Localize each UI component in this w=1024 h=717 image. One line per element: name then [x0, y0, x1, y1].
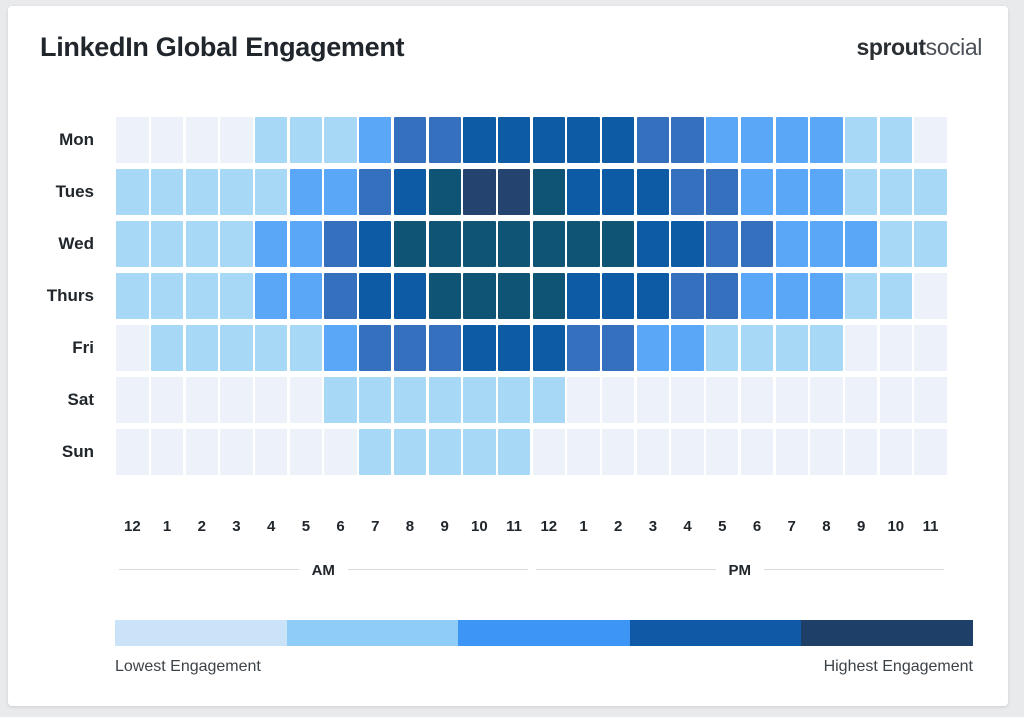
heatmap-cell[interactable]	[880, 221, 912, 267]
heatmap-cell[interactable]	[567, 325, 599, 371]
heatmap-cell[interactable]	[220, 273, 252, 319]
chart-card: LinkedIn Global Engagement sproutsocial …	[8, 6, 1008, 706]
heatmap-cell[interactable]	[255, 377, 287, 423]
heatmap-cell[interactable]	[776, 117, 808, 163]
heatmap-row	[115, 218, 948, 270]
heatmap-cell[interactable]	[845, 429, 877, 475]
hour-tick-20: 8	[809, 518, 844, 546]
heatmap-cell[interactable]	[880, 429, 912, 475]
heatmap-cell[interactable]	[290, 221, 322, 267]
heatmap-cell[interactable]	[290, 169, 322, 215]
page-title: LinkedIn Global Engagement	[40, 32, 404, 63]
hour-tick-17: 5	[705, 518, 740, 546]
heatmap-cell[interactable]	[880, 377, 912, 423]
heatmap-cell[interactable]	[359, 169, 391, 215]
heatmap-cell[interactable]	[533, 429, 565, 475]
hour-tick-13: 1	[566, 518, 601, 546]
day-axis: MonTuesWedThursFriSatSun	[8, 114, 108, 482]
heatmap-cell[interactable]	[498, 429, 530, 475]
heatmap-cell[interactable]	[116, 169, 148, 215]
heatmap-cell[interactable]	[394, 429, 426, 475]
heatmap-cell[interactable]	[463, 117, 495, 163]
heatmap-cell[interactable]	[394, 169, 426, 215]
heatmap-cell[interactable]	[429, 169, 461, 215]
heatmap-cell[interactable]	[429, 325, 461, 371]
heatmap-cell[interactable]	[741, 169, 773, 215]
heatmap-cell[interactable]	[880, 325, 912, 371]
heatmap-cell[interactable]	[290, 117, 322, 163]
ampm-axis: AM PM	[115, 556, 948, 584]
heatmap-cell[interactable]	[463, 273, 495, 319]
heatmap-cell[interactable]	[914, 169, 946, 215]
heatmap-row	[115, 322, 948, 374]
heatmap-cell[interactable]	[151, 169, 183, 215]
hour-tick-15: 3	[636, 518, 671, 546]
day-label-tues: Tues	[8, 166, 108, 218]
chart-header: LinkedIn Global Engagement sproutsocial	[8, 6, 1008, 98]
heatmap-cell[interactable]	[914, 273, 946, 319]
day-label-sun: Sun	[8, 426, 108, 478]
legend-swatch-1	[287, 620, 459, 646]
heatmap-cell[interactable]	[567, 169, 599, 215]
heatmap-cell[interactable]	[290, 377, 322, 423]
heatmap-grid	[115, 114, 948, 482]
heatmap-row	[115, 114, 948, 166]
heatmap-cell[interactable]	[706, 273, 738, 319]
heatmap-cell[interactable]	[116, 325, 148, 371]
heatmap-cell[interactable]	[186, 221, 218, 267]
heatmap-cell[interactable]	[637, 117, 669, 163]
heatmap-cell[interactable]	[845, 221, 877, 267]
heatmap-cell[interactable]	[567, 273, 599, 319]
heatmap-cell[interactable]	[602, 377, 634, 423]
heatmap-cell[interactable]	[186, 117, 218, 163]
heatmap-cell[interactable]	[220, 377, 252, 423]
hour-tick-21: 9	[844, 518, 879, 546]
heatmap-cell[interactable]	[394, 377, 426, 423]
heatmap-row	[115, 166, 948, 218]
legend-swatch-4	[801, 620, 973, 646]
heatmap-cell[interactable]	[567, 377, 599, 423]
heatmap-cell[interactable]	[359, 273, 391, 319]
heatmap-cell[interactable]	[637, 377, 669, 423]
heatmap-cell[interactable]	[602, 169, 634, 215]
heatmap-cell[interactable]	[220, 221, 252, 267]
day-label-mon: Mon	[8, 114, 108, 166]
heatmap-cell[interactable]	[359, 221, 391, 267]
hour-axis: 121234567891011121234567891011	[115, 518, 948, 546]
heatmap-cell[interactable]	[741, 273, 773, 319]
heatmap-cell[interactable]	[671, 429, 703, 475]
heatmap-cell[interactable]	[116, 377, 148, 423]
heatmap-cell[interactable]	[567, 429, 599, 475]
day-label-thurs: Thurs	[8, 270, 108, 322]
hour-tick-8: 8	[393, 518, 428, 546]
legend-low-label: Lowest Engagement	[115, 658, 261, 676]
heatmap-cell[interactable]	[186, 273, 218, 319]
logo-text-light: social	[926, 34, 982, 60]
heatmap-cell[interactable]	[741, 117, 773, 163]
heatmap-cell[interactable]	[914, 117, 946, 163]
heatmap-cell[interactable]	[914, 221, 946, 267]
heatmap-cell[interactable]	[706, 117, 738, 163]
heatmap-cell[interactable]	[567, 221, 599, 267]
heatmap-cell[interactable]	[255, 325, 287, 371]
heatmap-cell[interactable]	[880, 273, 912, 319]
heatmap-cell[interactable]	[186, 169, 218, 215]
heatmap-cell[interactable]	[776, 377, 808, 423]
day-label-wed: Wed	[8, 218, 108, 270]
hour-tick-9: 9	[427, 518, 462, 546]
hour-tick-23: 11	[913, 518, 948, 546]
heatmap-cell[interactable]	[810, 429, 842, 475]
am-label: AM	[299, 562, 348, 579]
heatmap-cell[interactable]	[776, 429, 808, 475]
heatmap-cell[interactable]	[776, 273, 808, 319]
heatmap-cell[interactable]	[151, 117, 183, 163]
heatmap-cell[interactable]	[533, 377, 565, 423]
heatmap-cell[interactable]	[671, 377, 703, 423]
heatmap-cell[interactable]	[324, 377, 356, 423]
hour-tick-12: 12	[531, 518, 566, 546]
hour-tick-19: 7	[774, 518, 809, 546]
heatmap-cell[interactable]	[671, 273, 703, 319]
heatmap-cell[interactable]	[637, 273, 669, 319]
heatmap-cell[interactable]	[810, 325, 842, 371]
heatmap-cell[interactable]	[637, 169, 669, 215]
heatmap-cell[interactable]	[324, 273, 356, 319]
heatmap-cell[interactable]	[151, 377, 183, 423]
heatmap-cell[interactable]	[324, 221, 356, 267]
heatmap-cell[interactable]	[706, 169, 738, 215]
heatmap-cell[interactable]	[394, 325, 426, 371]
heatmap-cell[interactable]	[671, 117, 703, 163]
heatmap-cell[interactable]	[429, 117, 461, 163]
hour-tick-2: 2	[184, 518, 219, 546]
heatmap-cell[interactable]	[324, 325, 356, 371]
heatmap-cell[interactable]	[845, 377, 877, 423]
heatmap-cell[interactable]	[776, 325, 808, 371]
heatmap-cell[interactable]	[706, 377, 738, 423]
heatmap-cell[interactable]	[845, 117, 877, 163]
heatmap-cell[interactable]	[637, 429, 669, 475]
heatmap-cell[interactable]	[914, 325, 946, 371]
day-label-sat: Sat	[8, 374, 108, 426]
heatmap-cell[interactable]	[359, 325, 391, 371]
heatmap-cell[interactable]	[810, 117, 842, 163]
heatmap-row	[115, 270, 948, 322]
heatmap-cell[interactable]	[706, 429, 738, 475]
heatmap-cell[interactable]	[220, 325, 252, 371]
heatmap-cell[interactable]	[602, 273, 634, 319]
legend-swatch-3	[630, 620, 802, 646]
pm-label: PM	[716, 562, 765, 579]
heatmap-cell[interactable]	[498, 325, 530, 371]
heatmap-cell[interactable]	[498, 377, 530, 423]
heatmap-cell[interactable]	[498, 169, 530, 215]
legend-swatch-0	[115, 620, 287, 646]
hour-tick-4: 4	[254, 518, 289, 546]
heatmap-cell[interactable]	[533, 325, 565, 371]
heatmap-cell[interactable]	[255, 117, 287, 163]
heatmap-cell[interactable]	[116, 429, 148, 475]
heatmap-cell[interactable]	[880, 117, 912, 163]
heatmap-cell[interactable]	[324, 117, 356, 163]
hour-tick-7: 7	[358, 518, 393, 546]
heatmap-cell[interactable]	[810, 221, 842, 267]
sprout-social-logo: sproutsocial	[856, 34, 982, 61]
heatmap-cell[interactable]	[637, 221, 669, 267]
heatmap-cell[interactable]	[186, 377, 218, 423]
logo-text-bold: sprout	[856, 34, 925, 60]
heatmap-cell[interactable]	[602, 221, 634, 267]
heatmap-cell[interactable]	[429, 377, 461, 423]
hour-tick-18: 6	[740, 518, 775, 546]
heatmap-cell[interactable]	[255, 221, 287, 267]
heatmap-cell[interactable]	[810, 273, 842, 319]
hour-tick-6: 6	[323, 518, 358, 546]
hour-tick-22: 10	[878, 518, 913, 546]
heatmap-cell[interactable]	[533, 117, 565, 163]
pm-section: PM	[532, 556, 949, 584]
heatmap-cell[interactable]	[394, 117, 426, 163]
heatmap-cell[interactable]	[394, 221, 426, 267]
heatmap-cell[interactable]	[880, 169, 912, 215]
heatmap-row	[115, 426, 948, 478]
heatmap-cell[interactable]	[463, 429, 495, 475]
hour-tick-5: 5	[289, 518, 324, 546]
heatmap-cell[interactable]	[186, 429, 218, 475]
heatmap-cell[interactable]	[220, 169, 252, 215]
legend-labels: Lowest Engagement Highest Engagement	[115, 658, 973, 684]
heatmap-cell[interactable]	[741, 429, 773, 475]
heatmap-cell[interactable]	[429, 429, 461, 475]
heatmap-cell[interactable]	[741, 377, 773, 423]
heatmap-cell[interactable]	[151, 273, 183, 319]
heatmap-cell[interactable]	[810, 169, 842, 215]
heatmap-cell[interactable]	[116, 273, 148, 319]
heatmap-cell[interactable]	[706, 221, 738, 267]
heatmap-cell[interactable]	[116, 221, 148, 267]
heatmap-cell[interactable]	[567, 117, 599, 163]
heatmap-cell[interactable]	[845, 169, 877, 215]
heatmap-cell[interactable]	[463, 221, 495, 267]
heatmap-cell[interactable]	[463, 325, 495, 371]
heatmap-cell[interactable]	[463, 377, 495, 423]
heatmap-cell[interactable]	[394, 273, 426, 319]
heatmap-cell[interactable]	[602, 429, 634, 475]
heatmap-cell[interactable]	[671, 325, 703, 371]
heatmap-cell[interactable]	[637, 325, 669, 371]
heatmap-cell[interactable]	[914, 377, 946, 423]
hour-tick-1: 1	[150, 518, 185, 546]
day-label-fri: Fri	[8, 322, 108, 374]
heatmap-cell[interactable]	[151, 325, 183, 371]
hour-tick-0: 12	[115, 518, 150, 546]
heatmap-cell[interactable]	[290, 325, 322, 371]
heatmap-cell[interactable]	[359, 429, 391, 475]
hour-tick-16: 4	[670, 518, 705, 546]
heatmap-cell[interactable]	[324, 429, 356, 475]
heatmap-cell[interactable]	[671, 221, 703, 267]
heatmap-cell[interactable]	[671, 169, 703, 215]
heatmap-cell[interactable]	[741, 325, 773, 371]
heatmap-cell[interactable]	[498, 273, 530, 319]
heatmap-cell[interactable]	[914, 429, 946, 475]
hour-tick-11: 11	[497, 518, 532, 546]
heatmap-cell[interactable]	[429, 221, 461, 267]
heatmap-cell[interactable]	[533, 221, 565, 267]
heatmap-cell[interactable]	[290, 429, 322, 475]
heatmap-cell[interactable]	[151, 429, 183, 475]
heatmap-cell[interactable]	[845, 325, 877, 371]
heatmap-cell[interactable]	[220, 429, 252, 475]
legend-gradient	[115, 620, 973, 646]
heatmap-row	[115, 374, 948, 426]
heatmap-cell[interactable]	[220, 117, 252, 163]
heatmap-cell[interactable]	[602, 117, 634, 163]
heatmap-cell[interactable]	[116, 117, 148, 163]
heatmap-cell[interactable]	[429, 273, 461, 319]
heatmap-cell[interactable]	[359, 377, 391, 423]
heatmap-cell[interactable]	[255, 273, 287, 319]
heatmap-cell[interactable]	[776, 221, 808, 267]
heatmap-cell[interactable]	[602, 325, 634, 371]
hour-tick-14: 2	[601, 518, 636, 546]
hour-tick-3: 3	[219, 518, 254, 546]
heatmap-cell[interactable]	[498, 117, 530, 163]
heatmap-cell[interactable]	[255, 169, 287, 215]
heatmap-cell[interactable]	[533, 273, 565, 319]
heatmap-cell[interactable]	[186, 325, 218, 371]
hour-tick-10: 10	[462, 518, 497, 546]
heatmap-cell[interactable]	[498, 221, 530, 267]
am-section: AM	[115, 556, 532, 584]
legend-high-label: Highest Engagement	[824, 658, 973, 676]
heatmap-cell[interactable]	[741, 221, 773, 267]
heatmap-cell[interactable]	[706, 325, 738, 371]
heatmap-cell[interactable]	[845, 273, 877, 319]
heatmap-cell[interactable]	[290, 273, 322, 319]
heatmap-cell[interactable]	[255, 429, 287, 475]
heatmap-cell[interactable]	[324, 169, 356, 215]
heatmap-cell[interactable]	[359, 117, 391, 163]
heatmap-cell[interactable]	[463, 169, 495, 215]
heatmap-cell[interactable]	[533, 169, 565, 215]
heatmap-cell[interactable]	[151, 221, 183, 267]
heatmap-cell[interactable]	[810, 377, 842, 423]
legend-swatch-2	[458, 620, 630, 646]
heatmap-cell[interactable]	[776, 169, 808, 215]
